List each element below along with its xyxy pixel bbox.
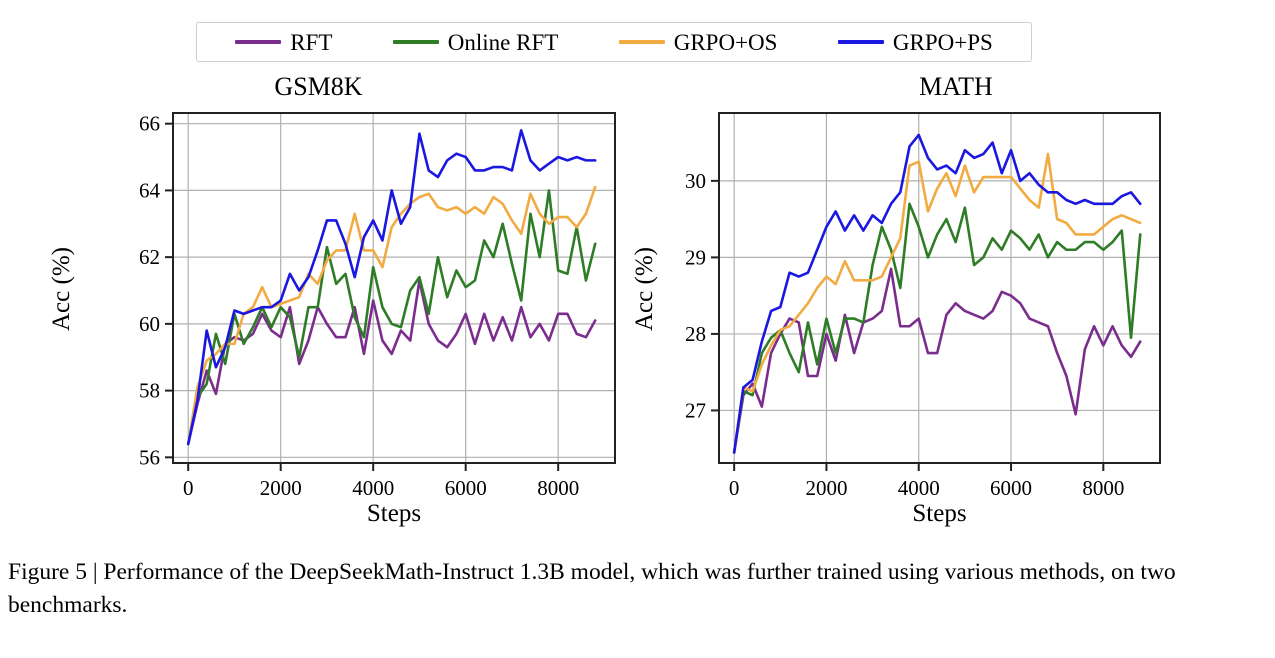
x-tick-label: 2000	[805, 476, 847, 500]
chart-title-gsm8k: GSM8K	[0, 72, 637, 102]
x-tick-label: 4000	[898, 476, 940, 500]
panel-math: MATH Acc (%) Steps 272829300200040006000…	[637, 0, 1275, 540]
x-tick-label: 6000	[445, 476, 487, 500]
y-tick-label: 64	[139, 178, 161, 202]
x-tick-label: 0	[729, 476, 740, 500]
y-tick-label: 58	[139, 379, 160, 403]
figure-root: RFT Online RFT GRPO+OS GRPO+PS GSM8K Acc…	[0, 0, 1275, 658]
figure-caption: Figure 5 | Performance of the DeepSeekMa…	[8, 556, 1188, 623]
panel-gsm8k: GSM8K Acc (%) Steps 56586062646602000400…	[0, 0, 637, 540]
y-tick-label: 56	[139, 445, 160, 469]
y-tick-label: 60	[139, 312, 160, 336]
y-tick-label: 27	[685, 398, 706, 422]
axis-ticks-layer: 2728293002000400060008000	[618, 106, 1181, 518]
x-tick-label: 2000	[260, 476, 302, 500]
axis-ticks-layer: 56586062646602000400060008000	[72, 106, 636, 518]
y-tick-label: 62	[139, 245, 160, 269]
y-tick-label: 28	[685, 322, 706, 346]
x-tick-label: 6000	[990, 476, 1032, 500]
x-tick-label: 0	[183, 476, 194, 500]
chart-title-math: MATH	[637, 72, 1275, 102]
y-tick-label: 30	[685, 169, 706, 193]
x-tick-label: 8000	[537, 476, 579, 500]
y-tick-label: 66	[139, 112, 160, 136]
y-tick-label: 29	[685, 245, 706, 269]
x-tick-label: 8000	[1082, 476, 1124, 500]
x-tick-label: 4000	[352, 476, 394, 500]
